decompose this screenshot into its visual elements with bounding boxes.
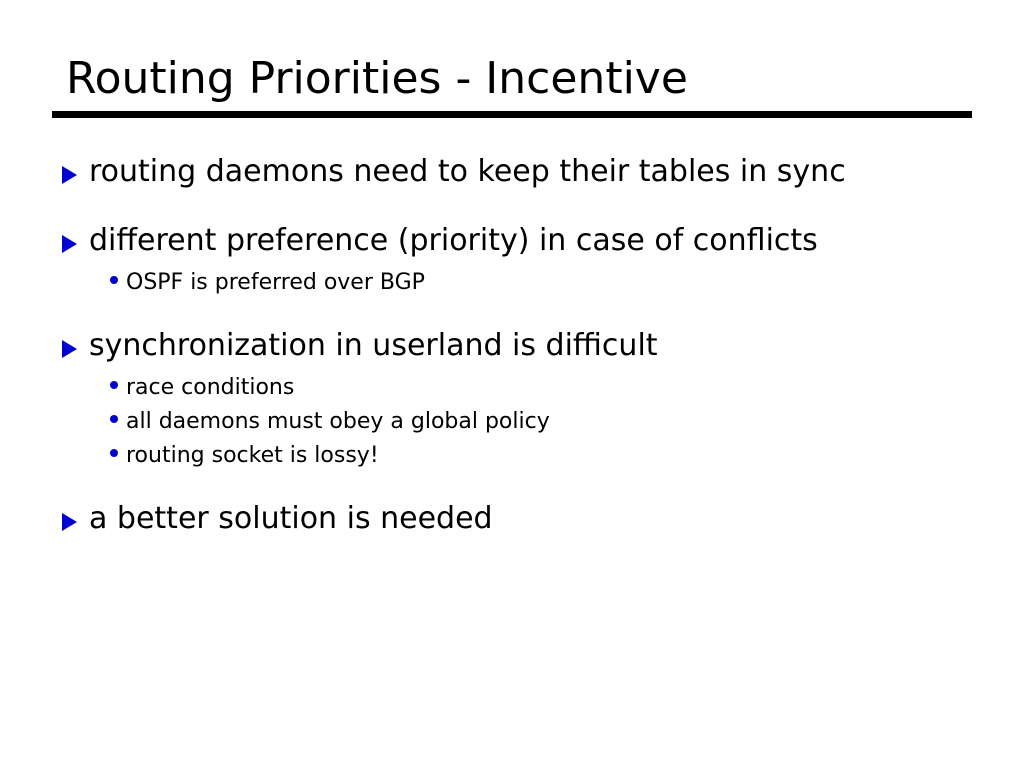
bullet-level2-label: routing socket is lossy! xyxy=(126,439,379,473)
slide-title-block: Routing Priorities - Incentive xyxy=(52,50,972,118)
bullet-level1: routing daemons need to keep their table… xyxy=(60,152,1000,195)
page-title: Routing Priorities - Incentive xyxy=(52,50,972,108)
bullet-level2-label: race conditions xyxy=(126,371,294,405)
bullet-level1-label: synchronization in userland is difficult xyxy=(89,326,658,366)
bullet-level1: synchronization in userland is difficult xyxy=(60,326,1000,369)
bullet-level2-label: all daemons must obey a global policy xyxy=(126,405,550,439)
bullet-level1-label: routing daemons need to keep their table… xyxy=(89,152,846,192)
bullet-level1-label: a better solution is needed xyxy=(89,499,493,539)
presentation-slide: Routing Priorities - Incentive routing d… xyxy=(0,0,1024,768)
bullet-level2: routing socket is lossy! xyxy=(60,439,1000,473)
triangle-right-bullet-icon xyxy=(60,328,89,368)
bullet-level2: race conditions xyxy=(60,371,1000,405)
round-dot-bullet-icon xyxy=(60,405,126,439)
round-dot-bullet-icon xyxy=(60,266,126,300)
sub-bullet-list: race conditions all daemons must obey a … xyxy=(60,371,1000,473)
sub-bullet-list: OSPF is preferred over BGP xyxy=(60,266,1000,300)
triangle-right-bullet-icon xyxy=(60,154,89,194)
bullet-level2-label: OSPF is preferred over BGP xyxy=(126,266,425,300)
bullet-group: synchronization in userland is difficult… xyxy=(60,326,1000,473)
bullet-level2: all daemons must obey a global policy xyxy=(60,405,1000,439)
bullet-level1: a better solution is needed xyxy=(60,499,1000,542)
triangle-right-bullet-icon xyxy=(60,223,89,263)
slide-body-content: routing daemons need to keep their table… xyxy=(60,152,1000,542)
round-dot-bullet-icon xyxy=(60,371,126,405)
bullet-group: a better solution is needed xyxy=(60,499,1000,542)
bullet-group: different preference (priority) in case … xyxy=(60,221,1000,300)
round-dot-bullet-icon xyxy=(60,439,126,473)
bullet-level1-label: different preference (priority) in case … xyxy=(89,221,818,261)
bullet-level2: OSPF is preferred over BGP xyxy=(60,266,1000,300)
triangle-right-bullet-icon xyxy=(60,501,89,541)
bullet-level1: different preference (priority) in case … xyxy=(60,221,1000,264)
title-underline-rule xyxy=(52,111,972,118)
bullet-group: routing daemons need to keep their table… xyxy=(60,152,1000,195)
